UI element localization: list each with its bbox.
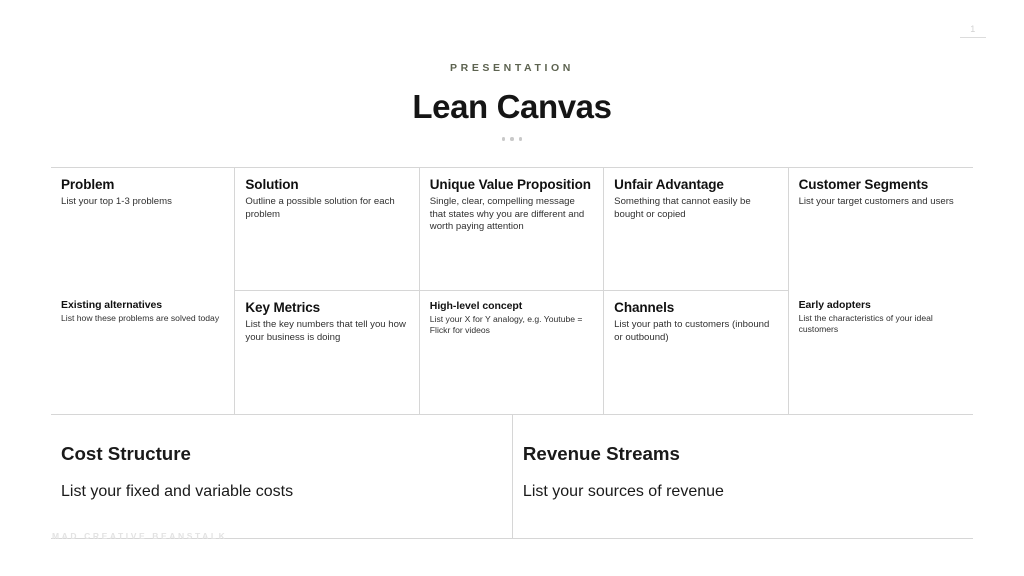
cell-body: List your sources of revenue [523,483,963,501]
cell-body: List your top 1-3 problems [61,196,224,209]
cell-body: List your target customers and users [799,196,963,209]
eyebrow-label: PRESENTATION [0,62,1024,74]
canvas-cell-high-level-concept[interactable]: High-level concept List your X for Y ana… [420,290,603,414]
page-title: Lean Canvas [0,88,1024,126]
page-number-value: 1 [960,24,986,34]
canvas-column-solution: Solution Outline a possible solution for… [235,168,419,414]
canvas-cell-existing-alternatives[interactable]: Existing alternatives List how these pro… [51,290,234,414]
canvas-cell-channels[interactable]: Channels List your path to customers (in… [604,290,787,414]
canvas-cell-unique-value-proposition[interactable]: Unique Value Proposition Single, clear, … [420,168,603,290]
canvas-cell-key-metrics[interactable]: Key Metrics List the key numbers that te… [235,290,418,414]
canvas-cell-unfair-advantage[interactable]: Unfair Advantage Something that cannot e… [604,168,787,290]
cell-title: Unfair Advantage [614,177,777,194]
cell-title: High-level concept [430,300,593,313]
cell-body: List your X for Y analogy, e.g. Youtube … [430,314,593,337]
cell-title: Solution [245,177,408,194]
cell-title: Problem [61,177,224,194]
dot-icon [519,137,523,141]
canvas-column-unique-value-proposition: Unique Value Proposition Single, clear, … [420,168,604,414]
page-number: 1 [960,24,986,38]
cell-title: Early adopters [799,299,963,312]
cell-title: Existing alternatives [61,299,224,312]
canvas-bottom-row: Cost Structure List your fixed and varia… [51,415,973,538]
cell-title: Unique Value Proposition [430,177,593,194]
canvas-cell-cost-structure[interactable]: Cost Structure List your fixed and varia… [51,415,513,538]
brand-footer: MAD CREATIVE BEANSTALK [52,531,227,541]
cell-body: List your path to customers (inbound or … [614,319,777,345]
canvas-cell-problem[interactable]: Problem List your top 1-3 problems [51,168,234,290]
canvas-column-customer-segments: Customer Segments List your target custo… [789,168,973,414]
dot-icon [510,137,514,141]
cell-body: List your fixed and variable costs [61,483,502,501]
page-number-rule [960,37,986,38]
cell-body: List the key numbers that tell you how y… [245,319,408,345]
cell-body: Something that cannot easily be bought o… [614,196,777,222]
cell-body: Outline a possible solution for each pro… [245,196,408,222]
dot-icon [502,137,506,141]
canvas-column-problem: Problem List your top 1-3 problems Exist… [51,168,235,414]
cell-body: List the characteristics of your ideal c… [799,313,963,336]
cell-title: Cost Structure [61,443,502,465]
cell-title: Key Metrics [245,300,408,317]
lean-canvas-grid: Problem List your top 1-3 problems Exist… [51,167,973,539]
cell-title: Customer Segments [799,177,963,194]
slide-header: PRESENTATION Lean Canvas [0,0,1024,141]
canvas-main-row: Problem List your top 1-3 problems Exist… [51,168,973,415]
cell-title: Channels [614,300,777,317]
dot-separator [0,137,1024,141]
canvas-column-unfair-advantage: Unfair Advantage Something that cannot e… [604,168,788,414]
canvas-cell-revenue-streams[interactable]: Revenue Streams List your sources of rev… [513,415,973,538]
canvas-cell-customer-segments[interactable]: Customer Segments List your target custo… [789,168,973,290]
cell-body: Single, clear, compelling message that s… [430,196,593,234]
canvas-cell-solution[interactable]: Solution Outline a possible solution for… [235,168,418,290]
cell-body: List how these problems are solved today [61,313,224,324]
canvas-cell-early-adopters[interactable]: Early adopters List the characteristics … [789,290,973,414]
cell-title: Revenue Streams [523,443,963,465]
